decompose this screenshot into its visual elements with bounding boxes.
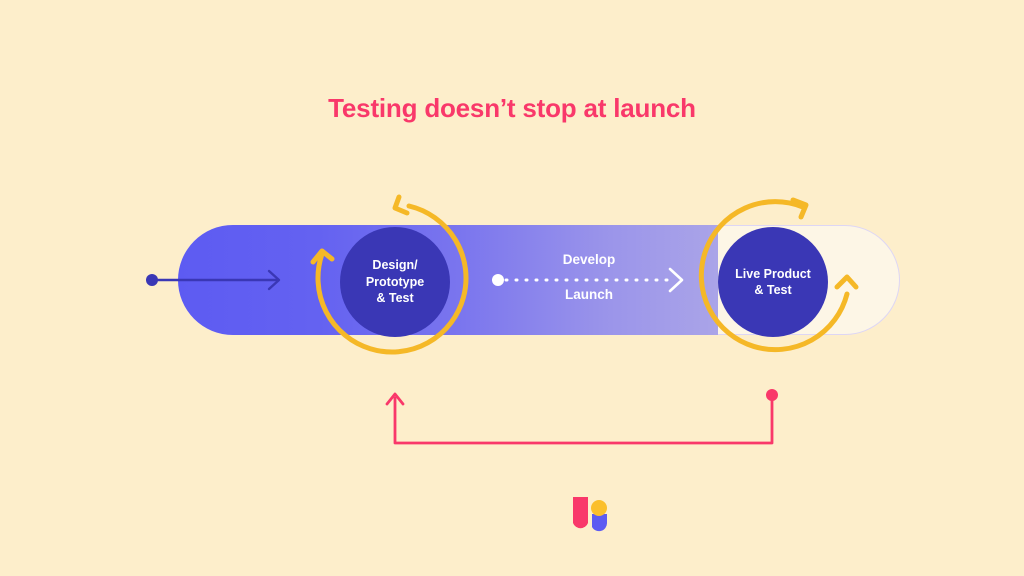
cycle-arrow-design-icon bbox=[313, 197, 466, 352]
diagram-vectors bbox=[0, 0, 1024, 576]
feedback-loop-icon bbox=[387, 389, 778, 443]
logo-bottom-right-shape bbox=[592, 514, 607, 531]
logo-left-shape bbox=[573, 497, 588, 528]
logo-dot-icon bbox=[591, 500, 607, 516]
brand-logo bbox=[573, 497, 607, 535]
develop-launch-arrow-icon bbox=[492, 269, 682, 291]
entry-arrow-icon bbox=[146, 271, 279, 289]
cycle-arrow-live-icon bbox=[701, 200, 856, 350]
slide-canvas: Testing doesn’t stop at launch Develop L… bbox=[0, 0, 1024, 576]
